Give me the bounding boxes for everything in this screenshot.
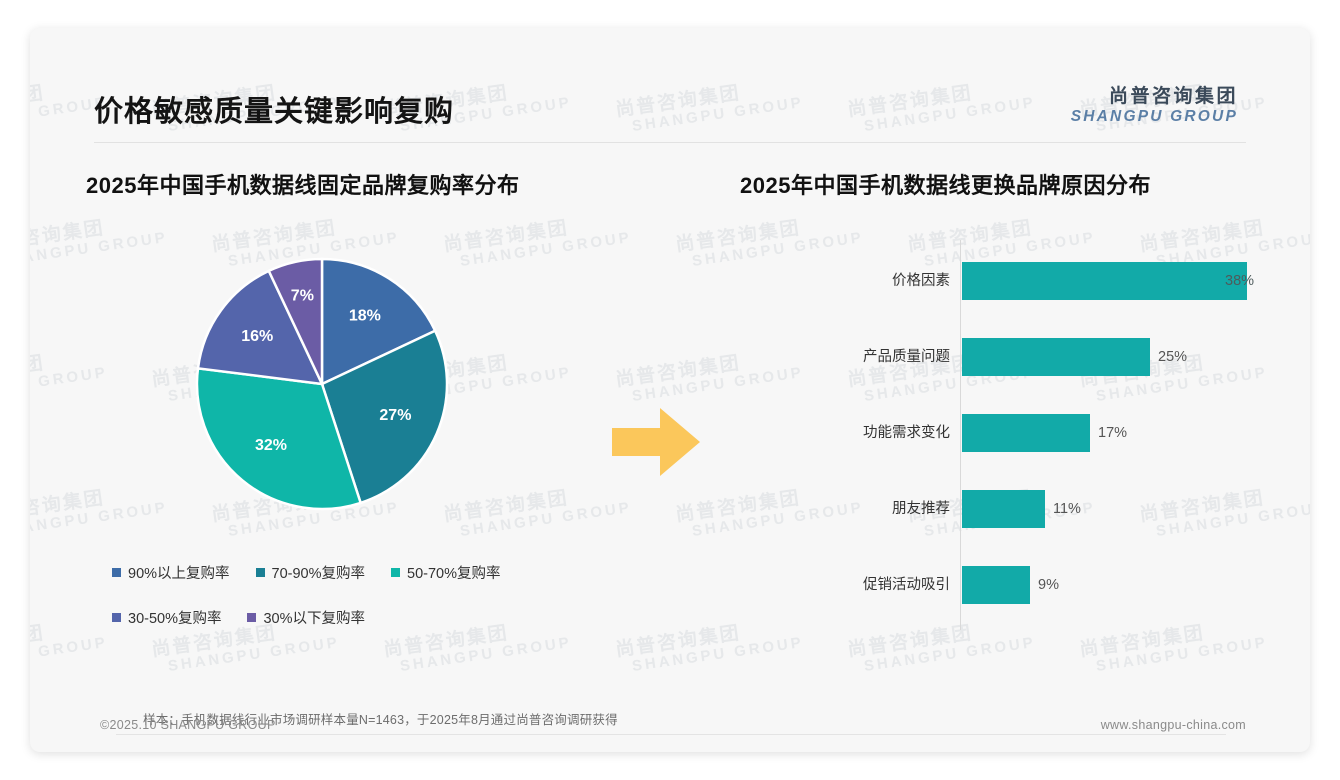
watermark-text: 尚普咨询集团SHANGPU GROUP — [210, 750, 400, 752]
legend-row-2: 30-50%复购率 30%以下复购率 — [112, 607, 672, 628]
bar-value-label: 25% — [1158, 338, 1187, 376]
legend-label: 30-50%复购率 — [128, 607, 221, 628]
bar-category-label: 朋友推荐 — [750, 490, 950, 528]
bar-chart-area: 价格因素38%产品质量问题25%功能需求变化17%朋友推荐11%促销活动吸引9% — [740, 240, 1280, 640]
bar-value-label: 38% — [1225, 262, 1254, 300]
legend-label: 50-70%复购率 — [407, 562, 500, 583]
bar-row: 价格因素38% — [740, 262, 1280, 300]
pie-slice-label: 27% — [379, 407, 411, 424]
page-title: 价格敏感质量关键影响复购 — [94, 88, 454, 130]
legend-label: 70-90%复购率 — [272, 562, 365, 583]
copyright-text: ©2025.10 SHANGPU GROUP — [100, 718, 276, 732]
legend-swatch-icon — [112, 568, 121, 577]
website-link[interactable]: www.shangpu-china.com — [1101, 718, 1246, 732]
watermark-text: 尚普咨询集团SHANGPU GROUP — [906, 750, 1096, 752]
pie-chart-area: 18%27%32%16%7% — [86, 234, 686, 534]
legend-label: 90%以上复购率 — [128, 562, 230, 583]
bar-category-label: 价格因素 — [750, 262, 950, 300]
watermark-text: 尚普咨询集团SHANGPU GROUP — [442, 750, 632, 752]
bar-fill[interactable] — [962, 338, 1150, 376]
slide-header: 价格敏感质量关键影响复购 尚普咨询集团 SHANGPU GROUP — [30, 28, 1310, 124]
logo-chinese-text: 尚普咨询集团 — [1071, 86, 1238, 108]
legend-item-0[interactable]: 90%以上复购率 — [112, 562, 230, 583]
bar-category-label: 促销活动吸引 — [750, 566, 950, 604]
bar-chart-panel: 2025年中国手机数据线更换品牌原因分布 价格因素38%产品质量问题25%功能需… — [740, 168, 1280, 640]
pie-legend: 90%以上复购率 70-90%复购率 50-70%复购率 30-50%复购率 — [112, 562, 672, 628]
pie-slice-label: 7% — [291, 287, 314, 304]
bar-row: 产品质量问题25% — [740, 338, 1280, 376]
watermark-text: 尚普咨询集团SHANGPU GROUP — [674, 750, 864, 752]
bar-category-label: 功能需求变化 — [750, 414, 950, 452]
legend-item-4[interactable]: 30%以下复购率 — [247, 607, 365, 628]
bar-value-label: 9% — [1038, 566, 1059, 604]
logo-english-text: SHANGPU GROUP — [1071, 108, 1238, 127]
pie-chart-title: 2025年中国手机数据线固定品牌复购率分布 — [86, 168, 686, 200]
bar-value-label: 17% — [1098, 414, 1127, 452]
bar-row: 功能需求变化17% — [740, 414, 1280, 452]
bar-value-label: 11% — [1053, 490, 1081, 528]
pie-slice-label: 16% — [241, 328, 273, 345]
legend-item-3[interactable]: 30-50%复购率 — [112, 607, 221, 628]
bar-fill[interactable] — [962, 566, 1030, 604]
slide-card: 尚普咨询集团SHANGPU GROUP尚普咨询集团SHANGPU GROUP尚普… — [30, 28, 1310, 752]
legend-swatch-icon — [112, 613, 121, 622]
legend-swatch-icon — [256, 568, 265, 577]
header-divider — [94, 142, 1246, 143]
pie-slice-label: 32% — [255, 437, 287, 454]
legend-item-1[interactable]: 70-90%复购率 — [256, 562, 365, 583]
brand-logo: 尚普咨询集团 SHANGPU GROUP — [1071, 86, 1238, 126]
bar-fill[interactable] — [962, 490, 1045, 528]
bar-chart-title: 2025年中国手机数据线更换品牌原因分布 — [740, 168, 1280, 200]
watermark-text: 尚普咨询集团SHANGPU GROUP — [1138, 750, 1310, 752]
pie-chart-svg: 18%27%32%16%7% — [172, 234, 472, 534]
pie-chart-panel: 2025年中国手机数据线固定品牌复购率分布 18%27%32%16%7% 90%… — [86, 168, 686, 652]
watermark-text: 尚普咨询集团SHANGPU GROUP — [30, 750, 169, 752]
bar-fill[interactable] — [962, 262, 1247, 300]
right-arrow-icon — [608, 402, 704, 487]
legend-row-1: 90%以上复购率 70-90%复购率 50-70%复购率 — [112, 562, 672, 583]
bar-row: 朋友推荐11% — [740, 490, 1280, 528]
legend-swatch-icon — [247, 613, 256, 622]
legend-swatch-icon — [391, 568, 400, 577]
legend-item-2[interactable]: 50-70%复购率 — [391, 562, 500, 583]
right-arrow-svg — [608, 402, 704, 482]
bar-category-label: 产品质量问题 — [750, 338, 950, 376]
footer-divider — [116, 734, 1226, 735]
bar-fill[interactable] — [962, 414, 1090, 452]
bar-row: 促销活动吸引9% — [740, 566, 1280, 604]
pie-slice-label: 18% — [349, 308, 381, 325]
legend-label: 30%以下复购率 — [263, 607, 365, 628]
